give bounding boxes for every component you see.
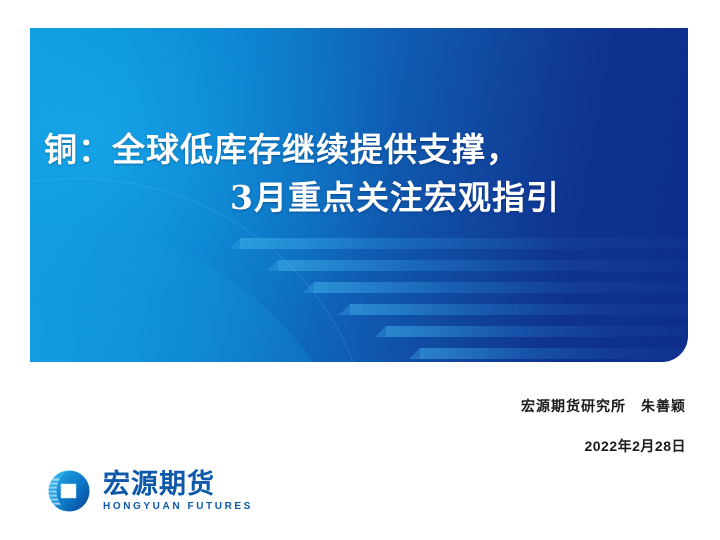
logo-english-name: HONGYUAN FUTURES: [103, 502, 253, 512]
stripe: [350, 304, 688, 315]
company-logo: 宏源期货 HONGYUAN FUTURES: [44, 466, 253, 516]
credits-block: 宏源期货研究所 朱善颖 2022年2月28日: [521, 396, 686, 456]
banner-arc-outline-decoration: [30, 178, 372, 362]
stripe: [278, 260, 688, 271]
logo-chinese-name: 宏源期货: [103, 471, 253, 498]
hongyuan-circle-mark-icon: [44, 466, 94, 516]
date-line: 2022年2月28日: [521, 436, 686, 456]
logo-wordmark: 宏源期货 HONGYUAN FUTURES: [103, 471, 253, 512]
stripe: [386, 326, 688, 337]
title-line-2: 3月重点关注宏观指引: [30, 174, 688, 222]
banner-glow-decoration: [30, 28, 390, 362]
hero-banner: 铜：全球低库存继续提供支撑， 3月重点关注宏观指引 www.hongyuanqh…: [30, 28, 688, 362]
stripe: [420, 348, 688, 359]
banner-stripes-decoration: [150, 238, 688, 362]
stripe: [240, 238, 688, 249]
title-line-1: 铜：全球低库存继续提供支撑，: [30, 126, 688, 174]
banner-arc-decoration: [30, 224, 370, 362]
author-line: 宏源期货研究所 朱善颖: [521, 396, 686, 416]
title-slide: 铜：全球低库存继续提供支撑， 3月重点关注宏观指引 www.hongyuanqh…: [0, 0, 720, 540]
slide-title: 铜：全球低库存继续提供支撑， 3月重点关注宏观指引: [30, 28, 688, 222]
stripe: [314, 282, 688, 293]
